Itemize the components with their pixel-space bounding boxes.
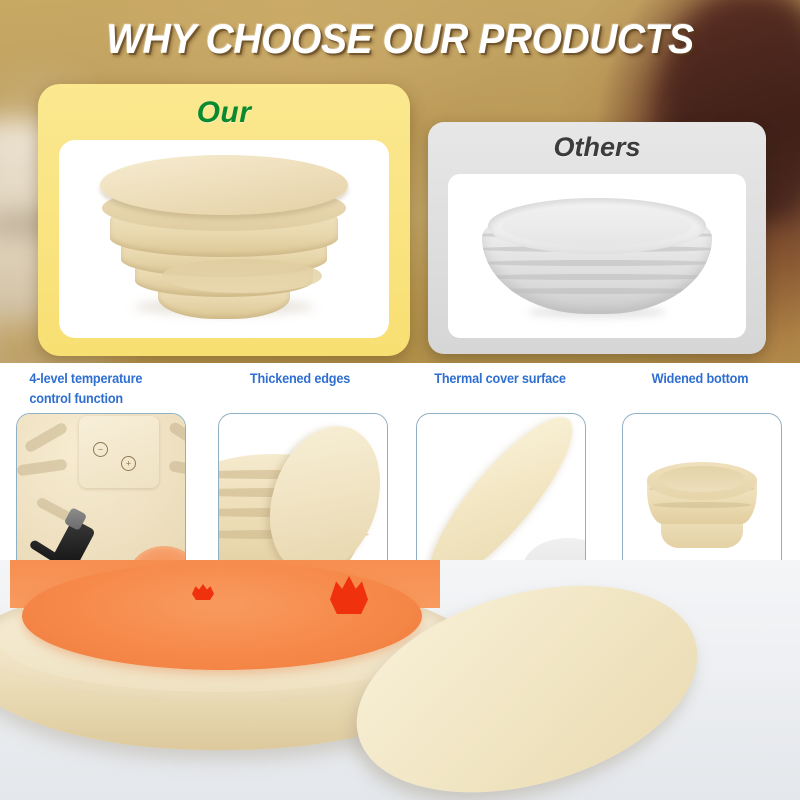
our-lid xyxy=(100,155,348,215)
temperature-plus-button[interactable]: + xyxy=(121,456,136,471)
our-bowl-illustration xyxy=(74,149,374,329)
our-bowl-interior xyxy=(162,259,322,293)
others-product-card: Others xyxy=(428,122,766,354)
others-bowl-interior xyxy=(502,206,692,246)
product-infographic: Our Others xyxy=(0,0,800,800)
feature-label: Thermal cover surface xyxy=(406,369,594,389)
feature-label-line1: Thermal cover surface xyxy=(406,369,594,389)
our-product-photo xyxy=(59,140,389,338)
feature-label-line2: control function xyxy=(29,389,198,409)
temperature-minus-button[interactable]: − xyxy=(93,442,108,457)
hero-heat-surface xyxy=(22,562,422,670)
control-plate: − + xyxy=(79,416,159,488)
bowl-interior xyxy=(659,466,745,492)
our-label: Our xyxy=(38,96,410,130)
feature-label: 4-level temperature control function xyxy=(29,369,198,408)
plus-icon: + xyxy=(126,459,131,468)
others-label: Others xyxy=(428,132,766,163)
others-product-photo xyxy=(448,174,746,338)
feature-label: Widened bottom xyxy=(606,369,794,389)
feature-label-line1: 4-level temperature xyxy=(29,369,198,389)
minus-icon: − xyxy=(98,445,103,454)
page-title: WHY CHOOSE OUR PRODUCTS xyxy=(28,18,772,60)
others-bowl-illustration xyxy=(472,194,722,324)
our-product-card: Our xyxy=(38,84,410,356)
feature-label-line1: Widened bottom xyxy=(606,369,794,389)
feature-label-line1: Thickened edges xyxy=(206,369,394,389)
feature-label: Thickened edges xyxy=(206,369,394,389)
hero-product-scene xyxy=(0,560,800,800)
